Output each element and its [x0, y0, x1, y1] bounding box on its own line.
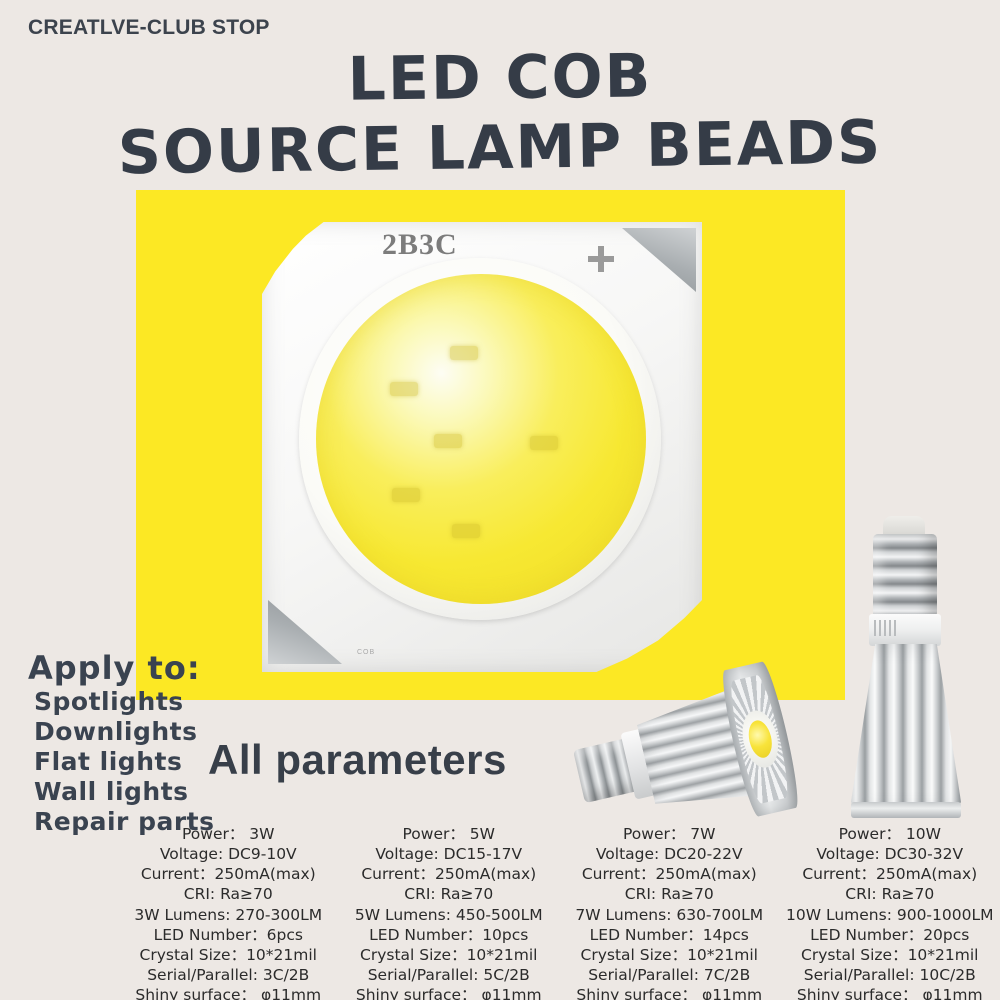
spec-led-number: LED Number：10pcs — [339, 925, 560, 945]
title-line-1: LED COB — [0, 43, 1000, 113]
page-title: LED COB SOURCE LAMP BEADS — [0, 48, 1000, 183]
spec-serial-parallel: Serial/Parallel: 10C/2B — [780, 965, 1000, 985]
spec-serial-parallel: Serial/Parallel: 3C/2B — [118, 965, 339, 985]
spec-led-number: LED Number：14pcs — [559, 925, 780, 945]
led-die — [452, 524, 480, 538]
cob-chip-photo: 2B3C COB — [262, 222, 702, 672]
spec-cri: CRI: Ra≥70 — [559, 884, 780, 904]
spec-shiny-surface: Shiny surface： φ11mm — [559, 985, 780, 1000]
product-banner: CREATLVE-CLUB STOP LED COB SOURCE LAMP B… — [0, 0, 1000, 1000]
spec-power: Power： 7W — [559, 824, 780, 844]
spec-cri: CRI: Ra≥70 — [780, 884, 1000, 904]
apply-to-title: Apply to: — [28, 650, 215, 687]
spec-power: Power： 3W — [118, 824, 339, 844]
spec-lumens: 5W Lumens: 450-500LM — [339, 905, 560, 925]
spec-cri: CRI: Ra≥70 — [118, 884, 339, 904]
spec-crystal-size: Crystal Size：10*21mil — [780, 945, 1000, 965]
spec-shiny-surface: Shiny surface： φ11mm — [339, 985, 560, 1000]
plus-polarity-icon — [588, 246, 614, 272]
spec-serial-parallel: Serial/Parallel: 5C/2B — [339, 965, 560, 985]
led-die — [530, 436, 558, 450]
spec-lumens: 10W Lumens: 900-1000LM — [780, 905, 1000, 925]
spec-current: Current：250mA(max) — [339, 864, 560, 884]
led-die — [392, 488, 420, 502]
specifications-table: Power： 3W Voltage: DC9-10V Current：250mA… — [118, 824, 1000, 1000]
chip-pad-text: COB — [357, 649, 375, 656]
apply-item-downlights: Downlights — [34, 717, 215, 747]
apply-item-spotlights: Spotlights — [34, 687, 215, 717]
spec-lumens: 3W Lumens: 270-300LM — [118, 905, 339, 925]
led-die — [434, 434, 462, 448]
spec-led-number: LED Number：20pcs — [780, 925, 1000, 945]
led-die — [390, 382, 418, 396]
spec-column-5w: Power： 5W Voltage: DC15-17V Current：250m… — [339, 824, 560, 1000]
spec-serial-parallel: Serial/Parallel: 7C/2B — [559, 965, 780, 985]
spec-voltage: Voltage: DC30-32V — [780, 844, 1000, 864]
spec-shiny-surface: Shiny surface： φ11mm — [118, 985, 339, 1000]
bulb-heatsink-body — [851, 644, 961, 812]
spec-voltage: Voltage: DC9-10V — [118, 844, 339, 864]
spec-crystal-size: Crystal Size：10*21mil — [118, 945, 339, 965]
spec-voltage: Voltage: DC15-17V — [339, 844, 560, 864]
spec-led-number: LED Number：6pcs — [118, 925, 339, 945]
spec-current: Current：250mA(max) — [559, 864, 780, 884]
e27-screw-base-icon — [873, 534, 937, 618]
spec-shiny-surface: Shiny surface： φ11mm — [780, 985, 1000, 1000]
title-line-2: SOURCE LAMP BEADS — [0, 107, 1000, 190]
chip-marking-label: 2B3C — [382, 228, 458, 262]
spec-column-10w: Power： 10W Voltage: DC30-32V Current：250… — [780, 824, 1000, 1000]
spec-column-3w: Power： 3W Voltage: DC9-10V Current：250mA… — [118, 824, 339, 1000]
spec-lumens: 7W Lumens: 630-700LM — [559, 905, 780, 925]
spec-voltage: Voltage: DC20-22V — [559, 844, 780, 864]
bulb-vent-slots — [874, 620, 896, 636]
spec-current: Current：250mA(max) — [118, 864, 339, 884]
brand-name: CREATLVE-CLUB STOP — [28, 16, 270, 40]
apply-item-wall-lights: Wall lights — [34, 777, 215, 807]
spec-column-7w: Power： 7W Voltage: DC20-22V Current：250m… — [559, 824, 780, 1000]
lamp-bulb-vertical-photo — [833, 516, 981, 826]
spec-power: Power： 5W — [339, 824, 560, 844]
spec-power: Power： 10W — [780, 824, 1000, 844]
spec-crystal-size: Crystal Size：10*21mil — [339, 945, 560, 965]
spec-current: Current：250mA(max) — [780, 864, 1000, 884]
apply-item-flat-lights: Flat lights — [34, 747, 215, 777]
apply-to-block: Apply to: Spotlights Downlights Flat lig… — [28, 650, 215, 837]
bulb-front-rim — [851, 802, 961, 818]
spec-cri: CRI: Ra≥70 — [339, 884, 560, 904]
led-die — [450, 346, 478, 360]
spec-crystal-size: Crystal Size：10*21mil — [559, 945, 780, 965]
all-parameters-heading: All parameters — [208, 736, 507, 784]
phosphor-surface — [316, 274, 646, 604]
